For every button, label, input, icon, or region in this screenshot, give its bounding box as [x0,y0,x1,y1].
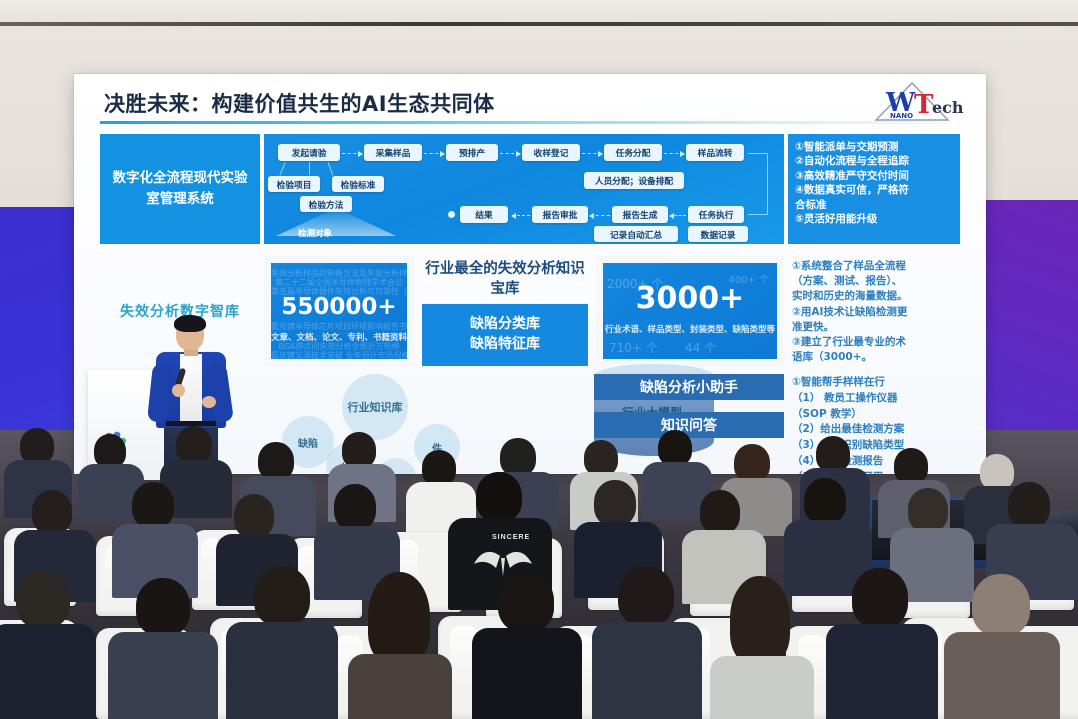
person-head [20,428,54,464]
flow-branch-node: 检验项目 [268,176,320,192]
ghost-line: 710+ 个 [609,339,658,356]
ghost-line: 氮化镓又添技术突破 全年预计市场规模将达数十亿美元。 [271,350,407,359]
flow-arrow [500,153,520,154]
svg-text:T: T [914,90,934,120]
flow-connector [767,153,768,215]
row1-flowchart: 发起请验 采集样品 预排产 收样登记 任务分配 样品流转 检验项目 检验标准 检… [264,134,784,244]
knowledge-card-heading-text: 行业最全的失效分析知识宝库 [422,260,588,299]
person-body [226,622,338,719]
flow-connector [309,162,310,175]
person-head [730,576,790,664]
body-line: 缺陷特征库 [470,336,540,352]
stat-panel: 失效分析样品的制备方法及失效分析样品 第二十二届全国半导体物理学术会议 第五届半… [271,263,407,359]
stat-panel: 2000+ 个 400+ 个 3000+ 行业术语、样品类型、封装类型、缺陷类型… [603,263,777,359]
person-head [804,478,846,524]
person-head [334,484,376,530]
flow-connector [279,162,285,175]
person-head [234,494,274,538]
person-head [852,568,908,628]
person-head [1008,482,1050,528]
stat-caption: 行业术语、样品类型、封装类型、缺陷类型等 [603,323,777,335]
slide-title: 决胜未来：构建价值共生的AI生态共同体 [104,88,495,118]
svg-text:ech: ech [932,98,964,117]
point-line: ①智能派单与交期预测 [795,140,953,154]
flow-node: 预排产 [446,144,498,161]
person-head [258,442,294,480]
flow-branch-node: 检验方法 [300,196,352,212]
person-head [94,434,126,468]
title-underline [100,121,945,124]
point-line: 准更快。 [792,320,956,335]
flow-arrow [582,153,602,154]
flow-node: 报告生成 [612,206,668,223]
person-body [826,624,938,719]
point-line: ②自动化流程与全程追踪 [795,154,953,168]
person-head [734,444,770,482]
point-line: ④数据真实可信，严格符 [795,183,953,197]
person-head [980,454,1014,490]
flow-endpoint-dot [448,211,455,218]
row2-right-points: ①系统整合了样品全流程 （方案、测试、报告）、 实时和历史的海量数据。 ②用AI… [788,256,960,366]
person-head [342,432,376,468]
row2-stat-card-3000: 2000+ 个 400+ 个 3000+ 行业术语、样品类型、封装类型、缺陷类型… [596,256,784,366]
audience-seating: SINCERE [0,420,1078,719]
person-head [368,572,430,664]
point-line: 实时和历史的海量数据。 [792,289,956,304]
person-head [584,440,618,476]
body-line: 缺陷分类库 [470,316,540,332]
person-head [658,430,692,466]
pyramid-shape [276,208,396,236]
flow-aside-node: 人员分配；设备排配 [584,172,684,189]
row1-left-label: 数字化全流程现代实验室管理系统 [100,134,260,244]
flow-node: 采集样品 [364,144,422,161]
flow-node: 样品流转 [686,144,744,161]
person-head [908,488,948,532]
flow-node: 结果 [460,206,508,223]
row2-stat-card-550000: 失效分析样品的制备方法及失效分析样品 第二十二届全国半导体物理学术会议 第五届半… [264,256,414,366]
jacket-text: SINCERE [492,534,530,541]
person-body [710,656,814,719]
person-body [944,632,1060,719]
svg-text:NANO: NANO [890,112,913,120]
ghost-line: 44 个 [685,339,716,356]
point-line: ⑤灵活好用能升级 [795,212,953,226]
person-head [422,450,456,486]
person-head [132,482,174,528]
person-head [136,578,190,636]
person-head [500,438,536,476]
flow-branch-node: 检验标准 [332,176,384,192]
flow-arrow [590,215,610,216]
person-body [0,624,96,719]
stat-big-number: 3000+ [603,281,777,316]
speaker-hair [174,315,206,332]
flow-connector [328,162,334,175]
row1-right-points: ①智能派单与交期预测 ②自动化流程与全程追踪 ③高效精准严守交付时间 ④数据真实… [788,134,960,244]
person-head [254,566,310,626]
point-line: ①智能帮手样样在行 [792,375,960,391]
flow-node: 报告审批 [532,206,588,223]
flow-node: 任务分配 [604,144,662,161]
person-body [348,654,452,719]
person-head [594,480,636,526]
row3-bar-text: 缺陷分析小助手 [640,377,738,397]
person-body [592,622,702,719]
flow-connector [748,153,768,154]
speaker-hand-left [172,384,185,397]
flow-node: 任务执行 [688,206,744,223]
stat-big-number: 550000+ [271,294,407,320]
person-head [32,490,72,534]
row3-bar-assistant: 缺陷分析小助手 [594,374,784,400]
point-line: 语库（3000+。 [792,350,956,365]
ceiling [0,0,1078,24]
flow-aside-node: 数据记录 [688,226,748,242]
flow-node: 发起请验 [278,144,340,161]
row1-left-label-text: 数字化全流程现代实验室管理系统 [110,168,250,210]
row2-knowledge-card: 行业最全的失效分析知识宝库 缺陷分类库 缺陷特征库 [422,256,588,366]
point-line: （1） 教员工操作仪器 [792,391,960,407]
person-head [894,448,928,484]
person-body [472,628,582,719]
flow-arrow [512,215,530,216]
person-head [476,472,522,522]
point-line: ①系统整合了样品全流程 [792,259,956,274]
flow-aside-node: 记录自动汇总 [594,226,678,242]
person-head [176,426,212,464]
person-body [108,632,218,719]
person-head [700,490,740,534]
flow-arrow [424,153,444,154]
knowledge-card-heading: 行业最全的失效分析知识宝库 [422,256,588,304]
point-line: ②用AI技术让缺陷检测更 [792,305,956,320]
flow-branch-base-label: 检测对象 [298,227,332,239]
point-line: ③建立了行业最专业的术 [792,335,956,350]
knowledge-card-body-text: 缺陷分类库 缺陷特征库 [470,315,540,354]
person-head [618,566,674,626]
person-head [816,436,850,472]
person-head [972,574,1030,636]
knowledge-card-body: 缺陷分类库 缺陷特征库 [422,304,588,366]
point-line: （方案、测试、报告）、 [792,274,956,289]
flow-node: 收样登记 [522,144,580,161]
flow-arrow [664,153,684,154]
flow-arrow [670,215,686,216]
flow-arrow [342,153,362,154]
speaker-hand-right [202,396,216,408]
company-logo: W NANO T ech [872,80,974,124]
flow-connector [748,214,768,215]
point-line: ③高效精准严守交付时间 [795,169,953,183]
person-head [498,572,554,632]
point-line: 合标准 [795,198,953,212]
person-head [16,570,70,628]
